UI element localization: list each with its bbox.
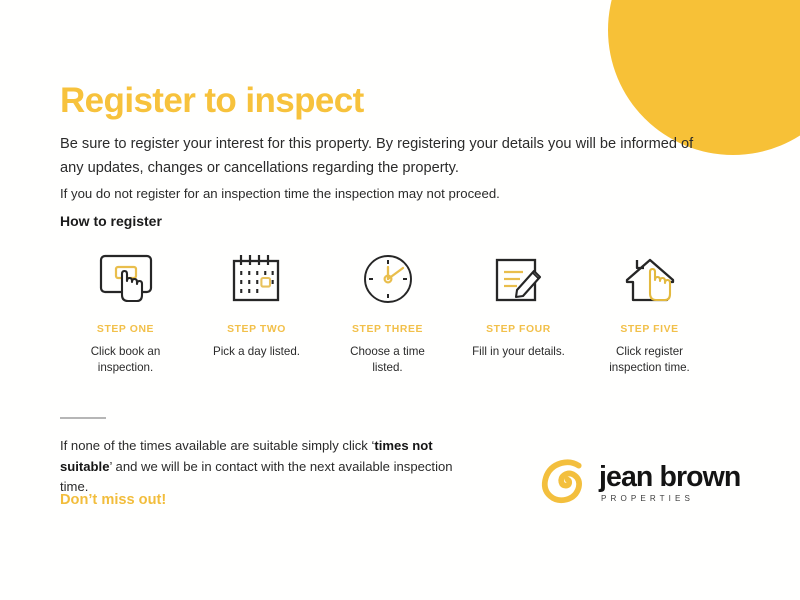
flyer-page: Register to inspect Be sure to register … — [0, 0, 800, 600]
footer-note-part1: If none of the times available are suita… — [60, 438, 374, 453]
step-description: Choose a time listed. — [334, 344, 442, 377]
house-tap-icon — [619, 250, 681, 312]
logo-name: jean brown — [599, 463, 740, 492]
steps-list: STEP ONE Click book an inspection. — [60, 250, 750, 377]
step-item-three: STEP THREE Choose a time listed. — [322, 250, 453, 377]
step-label: STEP ONE — [97, 324, 154, 335]
logo-wordmark: jean brown PROPERTIES — [599, 463, 740, 503]
step-item-four: STEP FOUR Fill in your details. — [453, 250, 584, 377]
decorative-corner-circle — [608, 0, 800, 155]
jean-brown-swirl-logo-icon — [538, 457, 590, 509]
footer-note-part2: ’ and we will be in contact with the nex… — [60, 459, 453, 495]
jean-brown-logo: jean brown PROPERTIES — [538, 457, 740, 509]
step-description: Pick a day listed. — [213, 344, 300, 360]
form-pencil-icon — [488, 250, 550, 312]
footer-note: If none of the times available are suita… — [60, 436, 480, 498]
how-to-register-heading: How to register — [60, 213, 162, 229]
intro-paragraph: Be sure to register your interest for th… — [60, 133, 715, 180]
tablet-tap-icon — [95, 250, 157, 312]
step-item-two: STEP TWO Pick a day listed. — [191, 250, 322, 377]
step-label: STEP FOUR — [486, 324, 551, 335]
step-description: Click book an inspection. — [72, 344, 180, 377]
section-divider — [60, 417, 106, 419]
step-description: Click register inspection time. — [596, 344, 704, 377]
step-label: STEP TWO — [227, 324, 286, 335]
clock-icon — [357, 250, 419, 312]
calendar-icon — [226, 250, 288, 312]
dont-miss-out-text: Don’t miss out! — [60, 492, 166, 508]
logo-subtitle: PROPERTIES — [601, 495, 694, 503]
step-label: STEP FIVE — [620, 324, 678, 335]
step-item-five: STEP FIVE Click register inspection time… — [584, 250, 715, 377]
subintro-paragraph: If you do not register for an inspection… — [60, 183, 720, 204]
step-item-one: STEP ONE Click book an inspection. — [60, 250, 191, 377]
page-title: Register to inspect — [60, 82, 364, 121]
step-label: STEP THREE — [352, 324, 423, 335]
step-description: Fill in your details. — [472, 344, 565, 360]
